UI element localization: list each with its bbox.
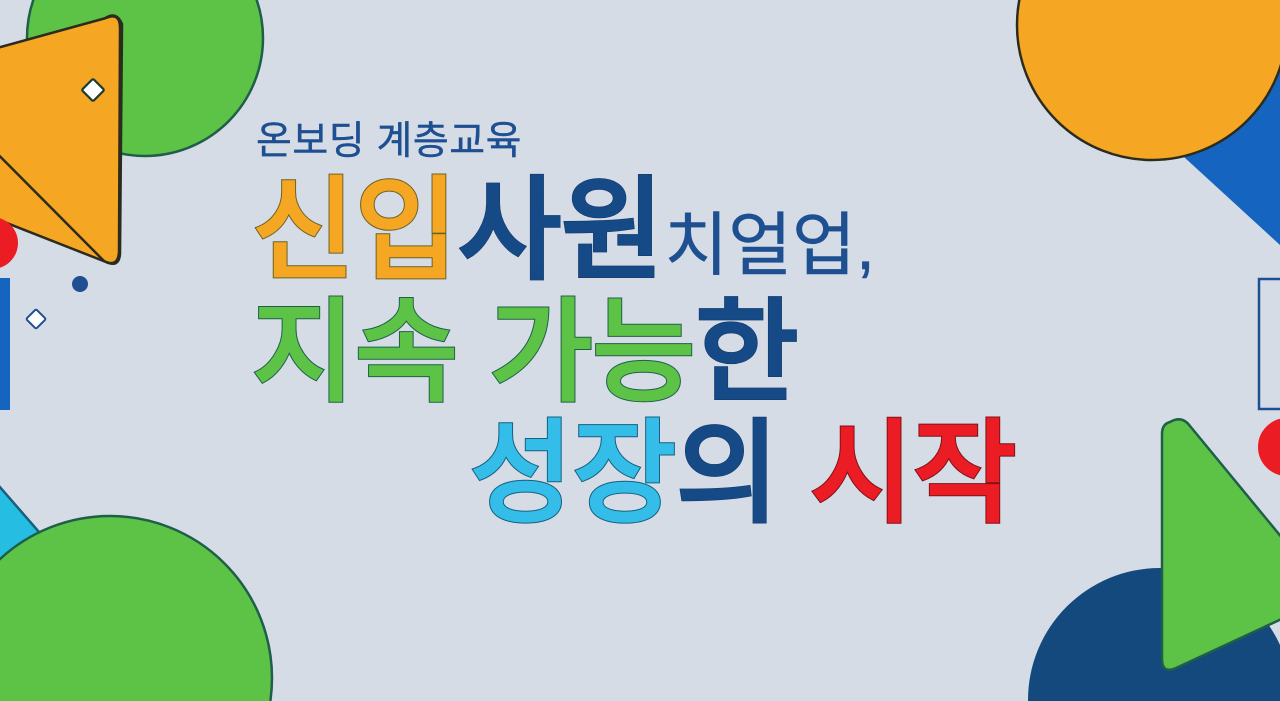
eyebrow-text: 온보딩 계층교육 <box>256 122 522 161</box>
headline-seg-han: 한 <box>695 290 798 415</box>
headline-line-2: 지속 가능한 <box>252 297 798 409</box>
headline-seg-cheerup: 치얼업, <box>664 206 875 284</box>
headline-seg-sawon: 사원 <box>458 168 664 293</box>
headline-seg-seongjang: 성장 <box>470 411 676 536</box>
headline-seg-sinip: 신입 <box>252 168 458 293</box>
headline-text-block: 온보딩 계층교육 신입사원치얼업, 지속 가능한 성장의 시작 <box>0 0 1280 701</box>
poster-canvas: 온보딩 계층교육 신입사원치얼업, 지속 가능한 성장의 시작 <box>0 0 1280 701</box>
headline-seg-space-2 <box>779 411 810 536</box>
headline-seg-sijak: 시작 <box>810 411 1016 536</box>
headline-line-1: 신입사원치얼업, <box>252 175 875 287</box>
headline-line-3: 성장의 시작 <box>470 418 1016 530</box>
headline-seg-space-1 <box>458 290 489 415</box>
headline-seg-jisok: 지속 <box>252 290 458 415</box>
headline-seg-ui: 의 <box>676 411 779 536</box>
headline-seg-ganeung: 가능 <box>489 290 695 415</box>
